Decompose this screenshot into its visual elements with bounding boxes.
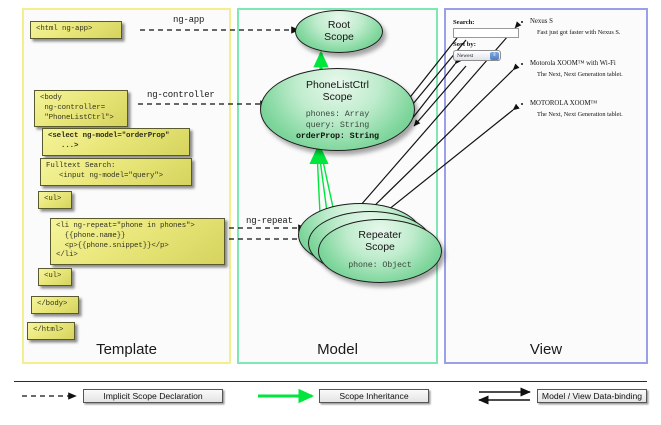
code-html-close: </html> <box>27 322 75 340</box>
view-phone-name-2: Motorola XOOM™ with Wi-Fi <box>530 60 616 67</box>
panel-model: Model <box>237 8 438 364</box>
scope-phonelistctrl-title-line2: Scope <box>261 91 414 103</box>
scope-repeater-title-line2: Scope <box>319 241 441 253</box>
view-phone-snippet-1: Fast just got faster with Nexus S. <box>537 29 620 36</box>
code-li-ng-repeat: <li ng-repeat="phone in phones"> {{phone… <box>50 218 225 265</box>
panel-template-label: Template <box>24 341 229 358</box>
view-search-input[interactable] <box>453 28 519 38</box>
legend-divider <box>14 381 647 382</box>
label-ng-repeat: ng-repeat <box>246 216 293 226</box>
scope-root-title-line1: Root <box>296 19 382 31</box>
scope-root-title-line2: Scope <box>296 31 382 43</box>
view-phone-snippet-3: The Next, Next Generation tablet. <box>537 111 623 118</box>
scope-phonelistctrl-prop-phones: phones: Array <box>261 109 414 120</box>
view-phone-name-1: Nexus S <box>530 18 553 25</box>
view-phone-snippet-2: The Next, Next Generation tablet. <box>537 71 623 78</box>
view-phone-name-3: MOTOROLA XOOM™ <box>530 100 597 107</box>
scope-root: Root Scope <box>295 10 383 53</box>
angularjs-scope-diagram: Template Model View <box>0 0 661 425</box>
scope-repeater-prop-phone: phone: Object <box>319 260 441 271</box>
scope-repeater: Repeater Scope phone: Object <box>318 219 442 283</box>
view-sort-select[interactable]: Newest ⇳ <box>453 50 501 61</box>
label-ng-app: ng-app <box>173 15 204 25</box>
scope-phonelistctrl-prop-query: query: String <box>261 120 414 131</box>
view-sort-label: Sort by: <box>453 41 476 48</box>
legend-item-scope-inheritance: Scope Inheritance <box>319 389 429 403</box>
panel-view-label: View <box>446 341 646 358</box>
code-select-tag: <select ng-model="orderProp" ...> <box>42 128 190 156</box>
code-html-tag: <html ng-app> <box>30 21 122 39</box>
scope-phonelistctrl-title-line1: PhoneListCtrl <box>261 79 414 91</box>
code-ul-close: <ul> <box>38 268 72 286</box>
legend-item-model-view-data-binding: Model / View Data-binding <box>537 389 647 403</box>
code-body-close: </body> <box>31 296 79 314</box>
code-ul-open: <ul> <box>38 191 72 209</box>
panel-model-label: Model <box>239 341 436 358</box>
code-search-input: Fulltext Search: <input ng-model="query"… <box>40 158 192 186</box>
view-search-label: Search: <box>453 19 475 26</box>
label-ng-controller: ng-controller <box>147 90 215 100</box>
scope-phonelistctrl-prop-orderprop: orderProp: String <box>261 131 414 142</box>
legend-item-implicit-scope-declaration: Implicit Scope Declaration <box>83 389 223 403</box>
code-body-tag: <body ng-controller= "PhoneListCtrl"> <box>34 90 128 127</box>
chevron-down-icon: ⇳ <box>490 52 499 60</box>
scope-phonelistctrl: PhoneListCtrl Scope phones: Array query:… <box>260 68 415 151</box>
view-sort-selected-value: Newest <box>457 53 473 59</box>
scope-repeater-title-line1: Repeater <box>319 229 441 241</box>
